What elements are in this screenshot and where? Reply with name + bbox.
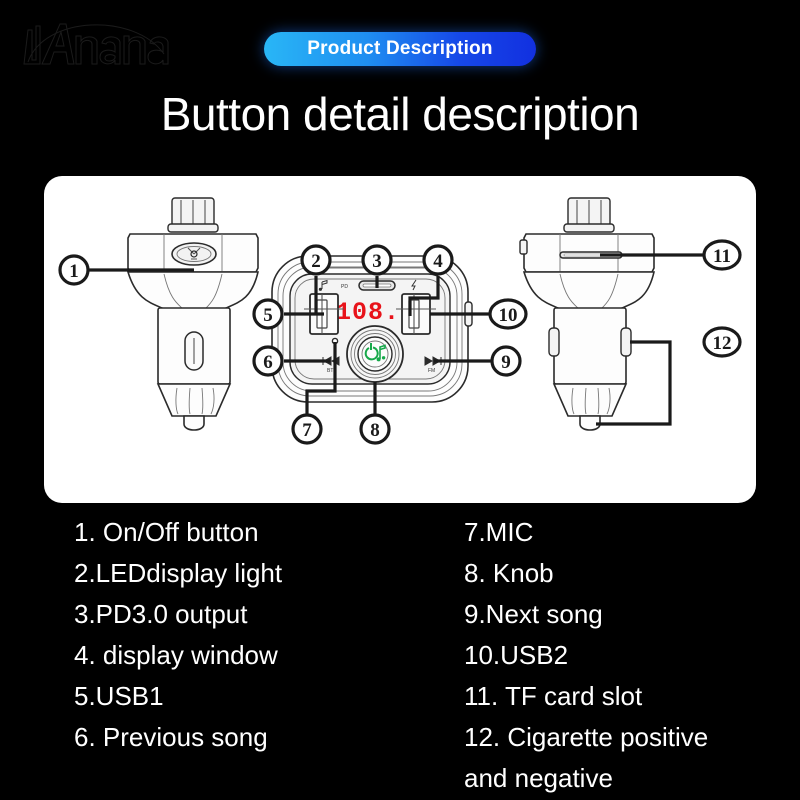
caption-item: 4. display window [74, 635, 454, 676]
next-button-label: FM [428, 368, 435, 374]
contact-left [549, 328, 559, 356]
callout-3: 3 [363, 246, 391, 274]
callout-6-number: 6 [263, 352, 273, 373]
callout-9-number: 9 [501, 352, 511, 373]
caption-item: 3.PD3.0 output [74, 594, 454, 635]
callout-3-number: 3 [372, 251, 382, 272]
caption-column-right: 7.MIC 8. Knob 9.Next song 10.USB2 11. TF… [464, 512, 794, 799]
caption-column-left: 1. On/Off button 2.LEDdisplay light 3.PD… [74, 512, 454, 758]
caption-item: 2.LEDdisplay light [74, 553, 454, 594]
knob[interactable] [347, 326, 403, 382]
callout-12-number: 12 [713, 333, 732, 354]
product-description-badge: Product Description [264, 32, 536, 66]
left-knob [168, 198, 218, 232]
callout-2: 2 [302, 246, 330, 274]
callout-10-number: 10 [499, 305, 518, 326]
caption-item: 1. On/Off button [74, 512, 454, 553]
page-title: Button detail description [0, 84, 800, 144]
callout-9: 9 [492, 347, 520, 375]
callout-11: 11 [704, 241, 740, 269]
callout-4: 4 [424, 246, 452, 274]
caption-item: 11. TF card slot [464, 676, 794, 717]
callout-7-number: 7 [302, 420, 312, 441]
callout-1: 1 [60, 256, 88, 284]
on-off-button[interactable] [172, 243, 216, 265]
caption-item: 10.USB2 [464, 635, 794, 676]
caption-item: 8. Knob [464, 553, 794, 594]
right-knob [564, 198, 614, 232]
callout-1-number: 1 [69, 261, 79, 282]
device-left-view [128, 198, 258, 430]
device-front-view: PD 108.0 [268, 256, 472, 402]
callout-5: 5 [254, 300, 282, 328]
callout-2-number: 2 [311, 251, 321, 272]
contact-right [621, 328, 631, 356]
caption-item: 9.Next song [464, 594, 794, 635]
callout-6: 6 [254, 347, 282, 375]
callout-7: 7 [293, 415, 321, 443]
caption-item: 12. Cigarette positive and negative [464, 717, 794, 799]
callout-5-number: 5 [263, 305, 273, 326]
caption-item: 7.MIC [464, 512, 794, 553]
caption-item: 5.USB1 [74, 676, 454, 717]
callout-8-number: 8 [370, 420, 380, 441]
brand-logo [14, 10, 174, 72]
pd-label: PD [341, 284, 348, 290]
caption-list: 1. On/Off button 2.LEDdisplay light 3.PD… [0, 512, 800, 800]
callout-12: 12 [704, 328, 740, 356]
callout-8: 8 [361, 415, 389, 443]
diagram-panel: .ln { fill:none; stroke:#2b2b2b; stroke-… [44, 176, 756, 503]
device-diagram: .ln { fill:none; stroke:#2b2b2b; stroke-… [44, 176, 756, 503]
badge-label: Product Description [307, 38, 492, 60]
callout-10: 10 [490, 300, 526, 328]
callout-4-number: 4 [433, 251, 443, 272]
side-button[interactable] [520, 240, 527, 254]
callout-11-number: 11 [713, 246, 731, 267]
brand-logo-mark [14, 10, 174, 72]
prev-button-label: BT [327, 368, 333, 374]
device-right-view [520, 198, 654, 430]
caption-item: 6. Previous song [74, 717, 454, 758]
